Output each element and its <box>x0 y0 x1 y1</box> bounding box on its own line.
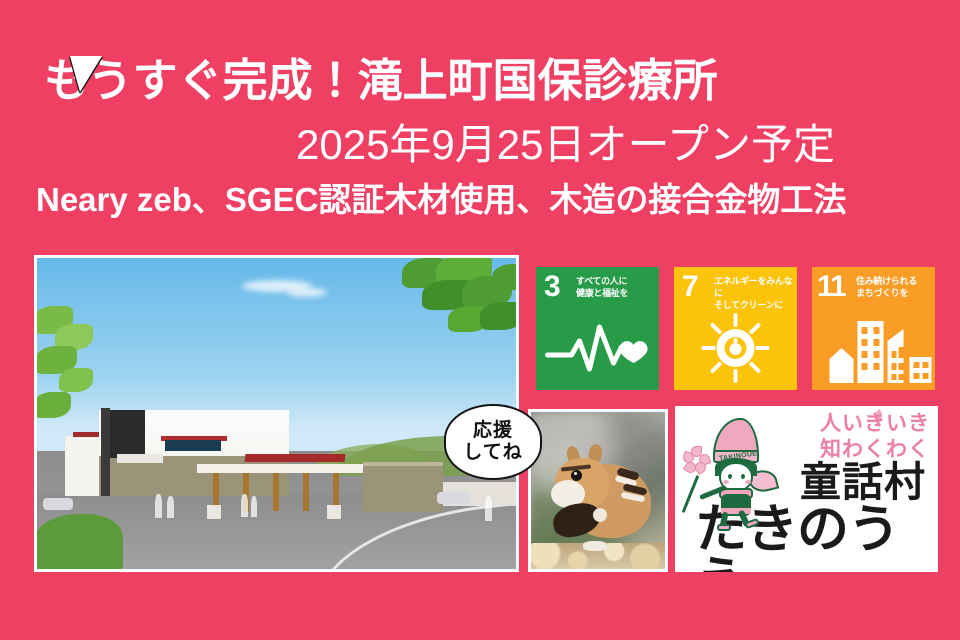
entrance-canopy <box>197 464 363 473</box>
cloud-icon <box>287 288 327 297</box>
figure-silhouette <box>251 496 257 517</box>
sdg-badge-11: 11 住み続けられる まちづくりを <box>812 267 935 390</box>
mascot-eye <box>741 474 745 479</box>
cherry-blossom-wand-flower <box>683 446 709 472</box>
sun-power-icon <box>674 311 797 385</box>
logo-tagline-line1: 人いきいき <box>820 412 930 436</box>
window-strip <box>117 454 163 463</box>
city-buildings-icon <box>812 311 935 385</box>
headline-block: もうすぐ完成！滝上町国保診療所 2025年9月25日オープン予定 Neary z… <box>0 0 960 240</box>
parked-car <box>43 498 73 510</box>
parked-car <box>437 492 471 504</box>
chipmunk-foot <box>583 541 607 551</box>
sdg-badge-row: 3 すべての人に 健康と福祉を 7 エネルギーをみんなに そしてクリーンに <box>536 267 935 390</box>
mascot-cheek <box>723 480 729 484</box>
sdg-label: すべての人に 健康と福祉を <box>576 275 656 299</box>
logo-tagline-line2: 知わくわく <box>820 438 930 462</box>
heartbeat-heart-icon <box>536 311 659 385</box>
entrance-canopy-roof <box>245 454 346 462</box>
open-date-text: 2025年9月25日オープン予定 <box>296 124 835 166</box>
sdg-badge-3: 3 すべての人に 健康と福祉を <box>536 267 659 390</box>
tree-foliage-right <box>392 255 519 374</box>
column-base <box>207 505 221 519</box>
chipmunk-eye-glint <box>574 472 577 475</box>
tree-foliage-left <box>34 306 103 446</box>
chipmunk-paw <box>593 508 607 522</box>
mascot-cheek <box>745 480 751 484</box>
takinoue-town-logo: 人いきいき 知わくわく 童話村 たきのうえ TAKINOUE <box>675 406 938 572</box>
figure-silhouette <box>485 496 492 521</box>
speech-bubble-line1: 応援 <box>473 420 513 442</box>
mascot-eye <box>728 474 732 479</box>
figure-silhouette <box>167 496 174 518</box>
sdg-number: 7 <box>682 272 698 302</box>
figure-silhouette <box>241 494 248 517</box>
speech-bubble: 応援 してね <box>444 404 542 480</box>
canopy-column <box>273 473 279 511</box>
sdg-number: 3 <box>544 272 560 302</box>
column-base <box>327 505 341 519</box>
chipmunk-photo <box>528 409 668 572</box>
takinoue-mascot-icon: TAKINOUE <box>685 416 789 520</box>
building-right-wing <box>363 466 443 512</box>
sdg-label: 住み続けられる まちづくりを <box>856 275 932 299</box>
mascot-wand <box>682 475 700 513</box>
spec-text: Neary zeb、SGEC認証木材使用、木造の接合金物工法 <box>36 183 846 216</box>
poster-root: もうすぐ完成！滝上町国保診療所 2025年9月25日オープン予定 Neary z… <box>0 0 960 640</box>
building-dark-panel <box>105 410 145 458</box>
window-strip <box>165 440 221 451</box>
sdg-label: エネルギーをみんなに そしてクリーンに <box>714 275 794 311</box>
shrub <box>34 514 123 572</box>
canopy-column <box>303 473 309 511</box>
mascot-shoe <box>717 524 731 531</box>
logo-tagline: 人いきいき 知わくわく <box>820 412 930 461</box>
speech-bubble-tail <box>70 56 102 92</box>
sdg-badge-7: 7 エネルギーをみんなに そしてクリーンに <box>674 267 797 390</box>
sdg-number: 11 <box>817 272 845 302</box>
speech-bubble-line2: してね <box>463 442 522 464</box>
page-title: もうすぐ完成！滝上町国保診療所 <box>44 58 718 103</box>
logo-title: 童話村 <box>800 462 926 503</box>
figure-silhouette <box>155 494 162 518</box>
